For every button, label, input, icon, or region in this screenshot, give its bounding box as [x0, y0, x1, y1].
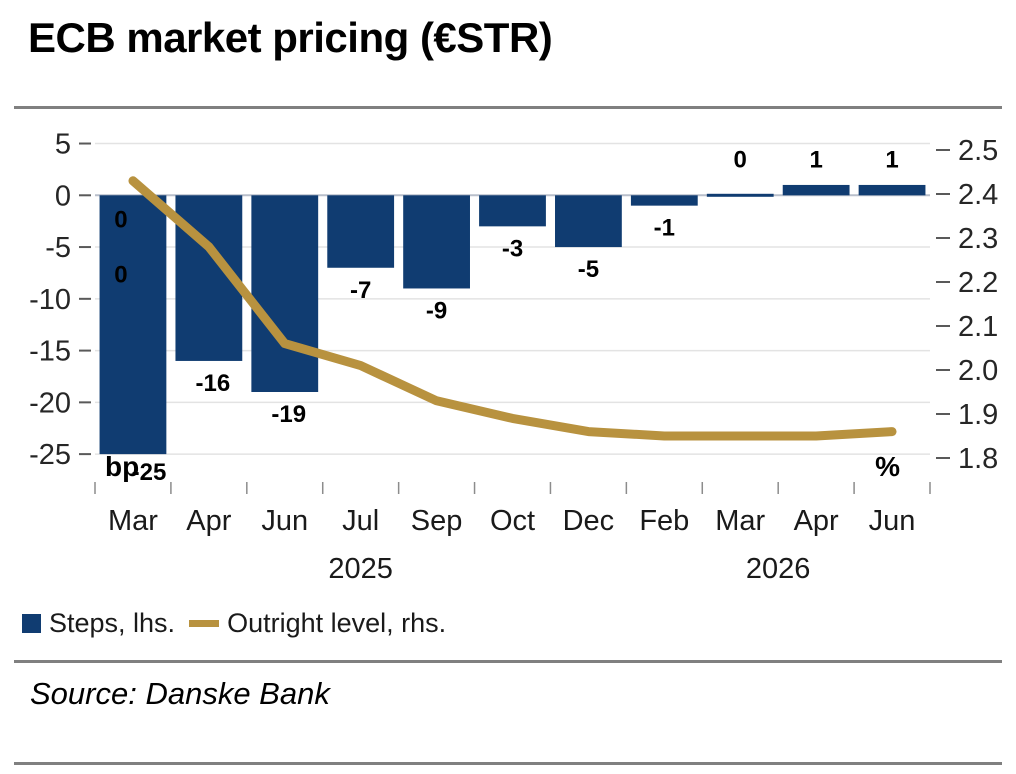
combo-chart: 50-5-10-15-20-252.52.42.32.22.12.01.91.8… [0, 110, 1016, 600]
bar[interactable] [327, 195, 394, 267]
source-note: Source: Danske Bank [30, 676, 330, 712]
bar-value-label: -9 [426, 297, 447, 324]
x-axis-category-label: Dec [563, 505, 615, 537]
x-axis-category-label: Jul [342, 505, 379, 537]
bar[interactable] [251, 195, 318, 392]
divider-source [14, 660, 1002, 663]
divider-bottom [14, 762, 1002, 765]
x-axis-category-label: Mar [715, 505, 765, 537]
right-axis-tick-label: 2.5 [958, 135, 998, 167]
bar-value-label: -1 [654, 215, 675, 242]
right-axis-tick-label: 2.3 [958, 223, 998, 255]
right-axis-tick-label: 1.8 [958, 443, 998, 475]
bar-swatch-icon [22, 614, 41, 633]
bar[interactable] [783, 185, 850, 195]
x-axis-category-label: Sep [411, 505, 463, 537]
bar-value-label: -7 [350, 277, 371, 304]
bar-value-label: -16 [196, 370, 231, 397]
x-axis-year-label: 2025 [328, 553, 393, 585]
right-axis-unit-label: % [875, 451, 900, 482]
right-axis-tick-label: 2.2 [958, 267, 998, 299]
legend-item-steps[interactable]: Steps, lhs. [22, 608, 175, 639]
divider-top [14, 106, 1002, 109]
x-axis-category-label: Feb [639, 505, 689, 537]
x-axis-category-label: Jun [869, 505, 916, 537]
right-axis-tick-label: 2.4 [958, 179, 998, 211]
x-axis-category-label: Apr [794, 505, 839, 537]
left-axis-tick-label: 0 [55, 180, 71, 212]
x-axis-category-label: Jun [261, 505, 308, 537]
left-axis-tick-label: -5 [45, 232, 71, 264]
left-axis-tick-label: 5 [55, 129, 71, 161]
right-axis-tick-label: 2.0 [958, 355, 998, 387]
left-axis-unit-label: bp [105, 451, 139, 482]
bar[interactable] [100, 195, 167, 454]
left-axis-tick-label: -20 [29, 387, 71, 419]
legend-label-steps: Steps, lhs. [49, 608, 175, 639]
legend-item-outright-level[interactable]: Outright level, rhs. [189, 608, 446, 639]
legend-label-outright-level: Outright level, rhs. [227, 608, 446, 639]
line-swatch-icon [189, 620, 219, 627]
bar[interactable] [479, 195, 546, 226]
page-title: ECB market pricing (€STR) [28, 14, 552, 62]
bar[interactable] [859, 185, 926, 195]
bar[interactable] [555, 195, 622, 247]
left-axis-tick-label: -25 [29, 439, 71, 471]
x-axis-category-label: Oct [490, 505, 535, 537]
chart-page: ECB market pricing (€STR) 50-5-10-15-20-… [0, 0, 1016, 774]
bar-value-label: -5 [578, 256, 599, 283]
bar-value-label: -3 [502, 235, 523, 262]
chart-legend: Steps, lhs. Outright level, rhs. [22, 600, 446, 646]
bar-value-label: 0 [734, 146, 747, 173]
right-axis-tick-label: 1.9 [958, 399, 998, 431]
inline-bar-label: 0 [114, 206, 127, 233]
x-axis-year-label: 2026 [746, 553, 811, 585]
bar-value-label: 1 [885, 146, 898, 173]
bar[interactable] [707, 194, 774, 197]
right-axis-tick-label: 2.1 [958, 311, 998, 343]
bar-value-label: -19 [271, 401, 306, 428]
bar-value-label: 1 [809, 146, 822, 173]
chart-plot-area: 50-5-10-15-20-252.52.42.32.22.12.01.91.8… [0, 110, 1016, 600]
bar[interactable] [631, 195, 698, 205]
x-axis-category-label: Mar [108, 505, 158, 537]
bar[interactable] [403, 195, 470, 288]
x-axis-category-label: Apr [186, 505, 231, 537]
left-axis-tick-label: -15 [29, 336, 71, 368]
left-axis-tick-label: -10 [29, 284, 71, 316]
inline-bar-label: 0 [114, 261, 127, 288]
